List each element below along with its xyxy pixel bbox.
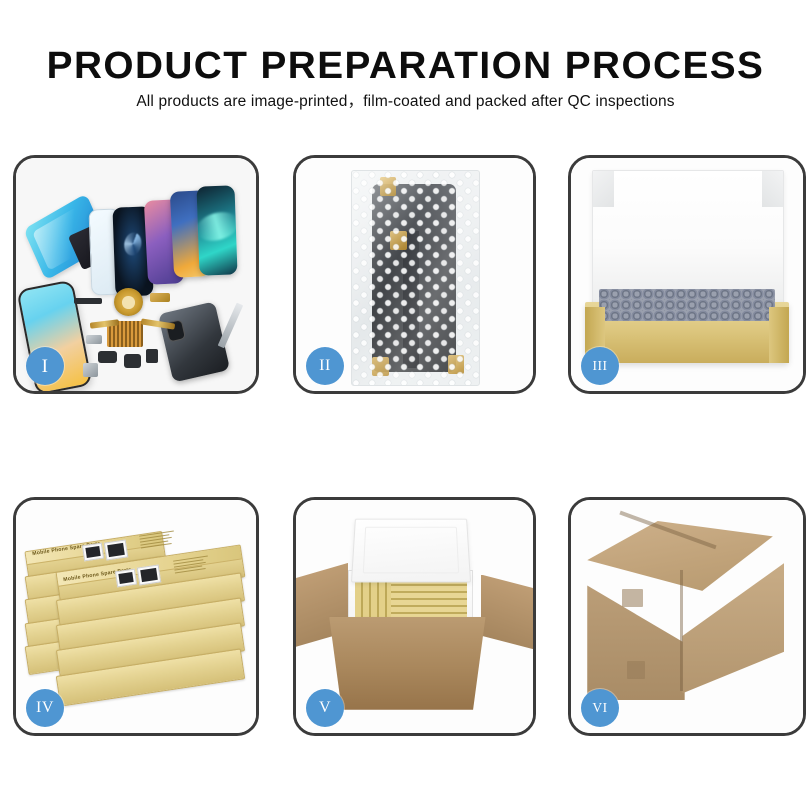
step-badge-1: I bbox=[26, 347, 64, 385]
box-stack: Mobile Phone Spare Parts Mobile Phone Sp… bbox=[26, 521, 247, 717]
tray-right-lip bbox=[769, 307, 789, 363]
carton-body bbox=[329, 617, 485, 710]
bubble-wrap-contents bbox=[599, 289, 775, 321]
box-swatch-front-1 bbox=[115, 569, 137, 587]
battery-part bbox=[146, 349, 158, 363]
page-title: PRODUCT PREPARATION PROCESS bbox=[0, 44, 811, 88]
carton-tape-upper bbox=[622, 589, 643, 608]
panel-step-1: I bbox=[13, 155, 259, 394]
panel-step-2: II bbox=[293, 155, 536, 394]
camera-part bbox=[124, 354, 141, 368]
page-subtitle: All products are image-printed，film-coat… bbox=[0, 92, 811, 112]
carton-corner-seam bbox=[680, 570, 683, 691]
box-swatch-front-2 bbox=[137, 564, 161, 585]
product-preparation-infographic: PRODUCT PREPARATION PROCESS All products… bbox=[0, 0, 811, 811]
panel-step-5: V bbox=[293, 497, 536, 736]
step-badge-6: VI bbox=[581, 689, 619, 727]
plastic-sheen bbox=[352, 171, 480, 385]
step-badge-3: III bbox=[581, 347, 619, 385]
step-badge-2: II bbox=[306, 347, 344, 385]
connector-part bbox=[74, 298, 103, 304]
panel-step-4: Mobile Phone Spare Parts Mobile Phone Sp… bbox=[13, 497, 259, 736]
box-swatch-back-2 bbox=[104, 539, 128, 560]
foam-lid bbox=[351, 519, 471, 583]
bubble-wrap-bag bbox=[351, 170, 481, 386]
speaker-part bbox=[98, 351, 117, 363]
step-badge-5: V bbox=[306, 689, 344, 727]
silver-part-a bbox=[86, 335, 103, 344]
panel-step-6: VI bbox=[568, 497, 806, 736]
kraft-box-tray bbox=[585, 302, 789, 363]
carton-tape-lower bbox=[627, 661, 646, 680]
sim-tray-part bbox=[83, 363, 97, 377]
step-badge-4: IV bbox=[26, 689, 64, 727]
panel-step-3: III bbox=[568, 155, 806, 394]
gold-part-a bbox=[150, 293, 169, 302]
phone-teal bbox=[197, 185, 238, 275]
